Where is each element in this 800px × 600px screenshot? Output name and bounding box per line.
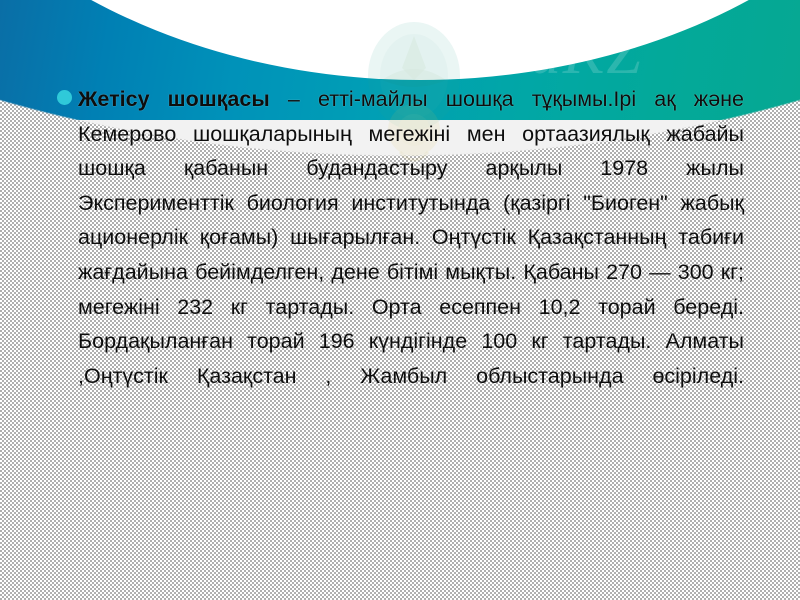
presentation-slide: aKZ Жетісу шошқасы – етті-майлы шошқа тұ… bbox=[0, 0, 800, 600]
breed-name-lead: Жетісу шошқасы bbox=[78, 87, 270, 111]
breed-description-body: – етті-майлы шошқа тұқымы.Ірі ақ және Ке… bbox=[78, 87, 744, 388]
bullet-list-item: Жетісу шошқасы – етті-майлы шошқа тұқымы… bbox=[50, 82, 750, 428]
slide-body: Жетісу шошқасы – етті-майлы шошқа тұқымы… bbox=[50, 82, 750, 428]
breed-description-paragraph: Жетісу шошқасы – етті-майлы шошқа тұқымы… bbox=[50, 82, 750, 428]
bullet-dot-icon bbox=[57, 90, 72, 105]
